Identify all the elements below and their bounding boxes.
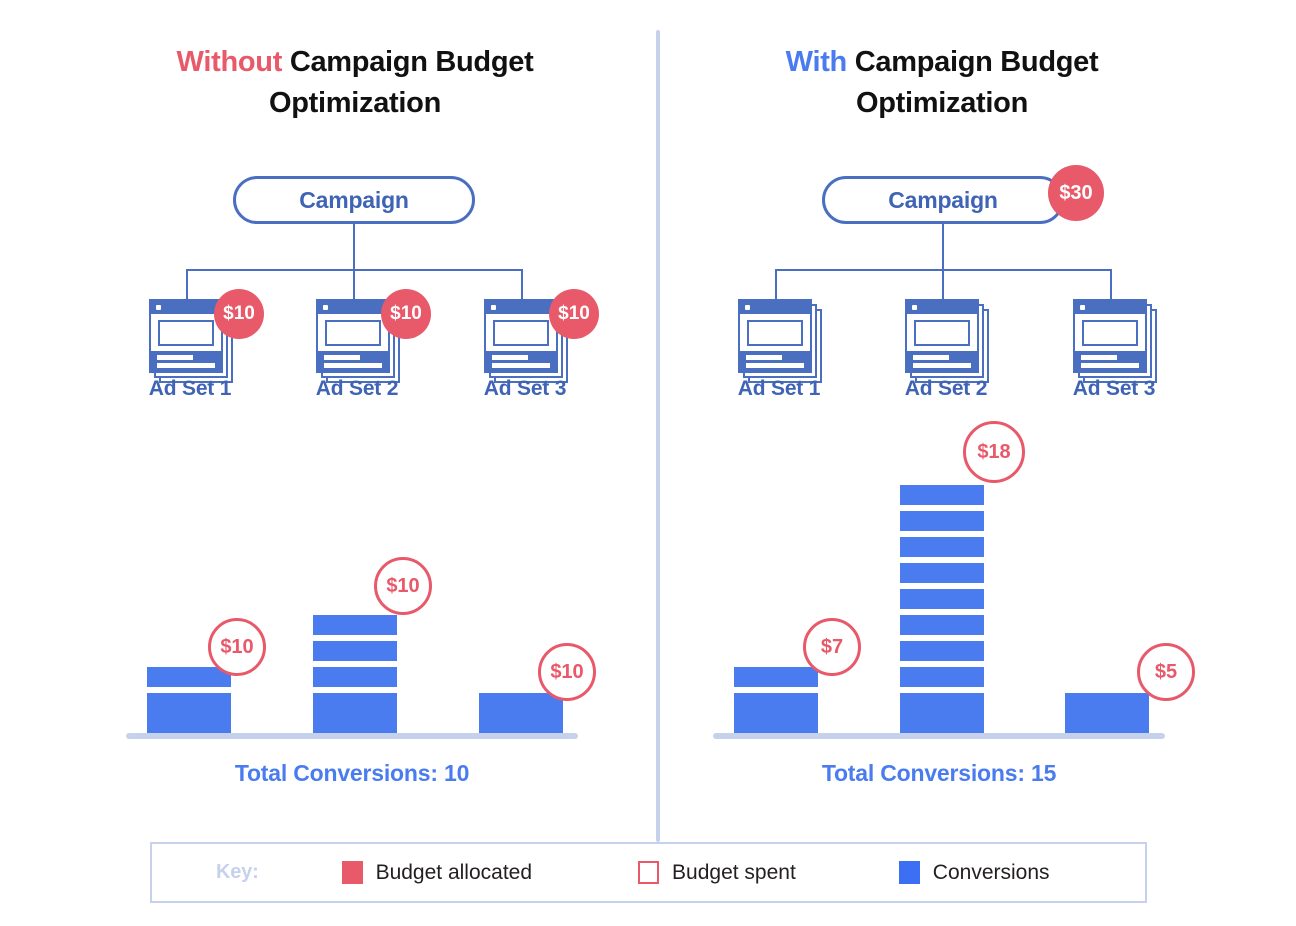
card-text-line-1	[492, 355, 528, 360]
legend-label-conversions: Conversions	[933, 861, 1050, 885]
card-dot-icon	[323, 305, 328, 310]
legend-item-budget-allocated: Budget allocated	[342, 861, 532, 885]
card-text-line-1	[913, 355, 949, 360]
chart-bar-with-3[interactable]	[1065, 681, 1149, 733]
bar-segment	[147, 693, 231, 713]
budget-spent-badge-label: $18	[977, 441, 1010, 464]
title-line2-with: Optimization	[856, 87, 1028, 119]
card-screen-icon	[1082, 320, 1138, 346]
total-conversions-without: Total Conversions: 10	[92, 760, 612, 787]
card-header-icon	[318, 301, 388, 314]
ad-card-icon	[905, 299, 979, 373]
card-screen-icon	[493, 320, 549, 346]
bar-segment	[900, 589, 984, 609]
bar-segment	[313, 667, 397, 687]
legend-label-budget-spent: Budget spent	[672, 861, 796, 885]
bar-segment	[900, 537, 984, 557]
ad-set-label-without-3: Ad Set 3	[445, 377, 605, 401]
card-text-line-1	[746, 355, 782, 360]
ad-card-icon	[1073, 299, 1147, 373]
card-footer-icon	[740, 351, 810, 371]
budget-allocated-badge-without-2: $10	[381, 289, 431, 339]
card-footer-icon	[486, 351, 556, 371]
card-text-line-1	[324, 355, 360, 360]
campaign-budget-badge-label: $30	[1059, 182, 1092, 205]
legend-swatch-budget-spent-icon	[638, 861, 659, 884]
ad-set-icon-with-1[interactable]	[738, 299, 834, 389]
chart-bar-without-2[interactable]	[313, 603, 397, 733]
ad-set-label-with-3: Ad Set 3	[1034, 377, 1194, 401]
bar-segment	[900, 713, 984, 733]
ad-card-icon	[149, 299, 223, 373]
total-conversions-with: Total Conversions: 15	[679, 760, 1199, 787]
tree-trunk-without	[353, 224, 355, 270]
card-footer-icon	[318, 351, 388, 371]
infographic-canvas: Without Campaign Budget Optimization Wit…	[0, 0, 1296, 926]
bar-segment	[734, 667, 818, 687]
card-dot-icon	[156, 305, 161, 310]
ad-card-icon	[484, 299, 558, 373]
card-text-line-1	[157, 355, 193, 360]
card-dot-icon	[1080, 305, 1085, 310]
campaign-node-label-without: Campaign	[299, 187, 409, 214]
tree-drop-without-1	[186, 269, 188, 301]
ad-card-icon	[316, 299, 390, 373]
legend-swatch-conversions-icon	[899, 861, 920, 884]
legend-key-label: Key:	[216, 861, 259, 884]
card-header-icon	[1075, 301, 1145, 314]
chart-bar-with-1[interactable]	[734, 655, 818, 733]
bar-segment	[900, 485, 984, 505]
tree-drop-without-3	[521, 269, 523, 301]
budget-spent-badge-label: $10	[220, 636, 253, 659]
campaign-node-label-with: Campaign	[888, 187, 998, 214]
panel-divider	[656, 30, 660, 842]
ad-set-icon-with-3[interactable]	[1073, 299, 1169, 389]
bar-segment	[734, 693, 818, 713]
card-dot-icon	[912, 305, 917, 310]
tree-drop-with-1	[775, 269, 777, 301]
ad-set-label-without-2: Ad Set 2	[277, 377, 437, 401]
budget-spent-badge-label: $10	[550, 661, 583, 684]
campaign-node-without[interactable]: Campaign	[233, 176, 475, 224]
legend-item-budget-spent: Budget spent	[638, 861, 796, 885]
chart-baseline-with	[713, 733, 1165, 739]
budget-spent-badge-without-2: $10	[374, 557, 432, 615]
card-header-icon	[486, 301, 556, 314]
tree-trunk-with	[942, 224, 944, 270]
budget-allocated-badge-label: $10	[558, 303, 590, 325]
budget-allocated-badge-label: $10	[223, 303, 255, 325]
budget-spent-badge-with-2: $18	[963, 421, 1025, 483]
page-title-with: With Campaign Budget Optimization	[672, 42, 1212, 124]
ad-set-label-without-1: Ad Set 1	[110, 377, 270, 401]
card-text-line-1	[1081, 355, 1117, 360]
card-footer-icon	[1075, 351, 1145, 371]
title-accent-with: With	[786, 46, 847, 78]
bar-segment	[313, 615, 397, 635]
card-text-line-2	[746, 363, 804, 368]
budget-spent-badge-with-1: $7	[803, 618, 861, 676]
card-dot-icon	[745, 305, 750, 310]
legend-swatch-budget-allocated-icon	[342, 861, 363, 884]
tree-drop-with-3	[1110, 269, 1112, 301]
budget-allocated-badge-without-3: $10	[549, 289, 599, 339]
campaign-budget-badge-with: $30	[1048, 165, 1104, 221]
legend: Key: Budget allocated Budget spent Conve…	[150, 842, 1147, 903]
bar-segment	[734, 713, 818, 733]
card-dot-icon	[491, 305, 496, 310]
card-text-line-2	[1081, 363, 1139, 368]
bar-segment	[313, 693, 397, 713]
title-rest-with: Campaign Budget	[847, 46, 1098, 78]
card-header-icon	[740, 301, 810, 314]
bar-segment	[1065, 693, 1149, 713]
ad-card-icon	[738, 299, 812, 373]
card-screen-icon	[914, 320, 970, 346]
card-screen-icon	[747, 320, 803, 346]
budget-allocated-badge-without-1: $10	[214, 289, 264, 339]
bar-segment	[900, 667, 984, 687]
bar-segment	[479, 713, 563, 733]
budget-spent-badge-label: $10	[386, 575, 419, 598]
bar-segment	[900, 615, 984, 635]
bar-segment	[147, 713, 231, 733]
bar-segment	[313, 713, 397, 733]
card-screen-icon	[158, 320, 214, 346]
tree-drop-without-2	[353, 269, 355, 301]
card-text-line-2	[324, 363, 382, 368]
card-text-line-2	[157, 363, 215, 368]
budget-spent-badge-label: $5	[1155, 661, 1177, 684]
title-rest-without: Campaign Budget	[282, 46, 533, 78]
campaign-node-with[interactable]: Campaign	[822, 176, 1064, 224]
budget-spent-badge-without-1: $10	[208, 618, 266, 676]
card-footer-icon	[907, 351, 977, 371]
budget-spent-badge-label: $7	[821, 636, 843, 659]
legend-item-conversions: Conversions	[899, 861, 1050, 885]
card-header-icon	[907, 301, 977, 314]
chart-bar-with-2[interactable]	[900, 459, 984, 733]
card-screen-icon	[325, 320, 381, 346]
tree-drop-with-2	[942, 269, 944, 301]
chart-baseline-without	[126, 733, 578, 739]
page-title-without: Without Campaign Budget Optimization	[85, 42, 625, 124]
ad-set-label-with-2: Ad Set 2	[866, 377, 1026, 401]
legend-label-budget-allocated: Budget allocated	[376, 861, 532, 885]
budget-allocated-badge-label: $10	[390, 303, 422, 325]
bar-segment	[900, 563, 984, 583]
bar-segment	[900, 693, 984, 713]
ad-set-icon-with-2[interactable]	[905, 299, 1001, 389]
bar-segment	[1065, 713, 1149, 733]
bar-segment	[900, 511, 984, 531]
card-header-icon	[151, 301, 221, 314]
card-text-line-2	[913, 363, 971, 368]
card-footer-icon	[151, 351, 221, 371]
bar-segment	[313, 641, 397, 661]
card-text-line-2	[492, 363, 550, 368]
bar-segment	[900, 641, 984, 661]
budget-spent-badge-without-3: $10	[538, 643, 596, 701]
ad-set-label-with-1: Ad Set 1	[699, 377, 859, 401]
title-line2-without: Optimization	[269, 87, 441, 119]
title-accent-without: Without	[177, 46, 283, 78]
budget-spent-badge-with-3: $5	[1137, 643, 1195, 701]
